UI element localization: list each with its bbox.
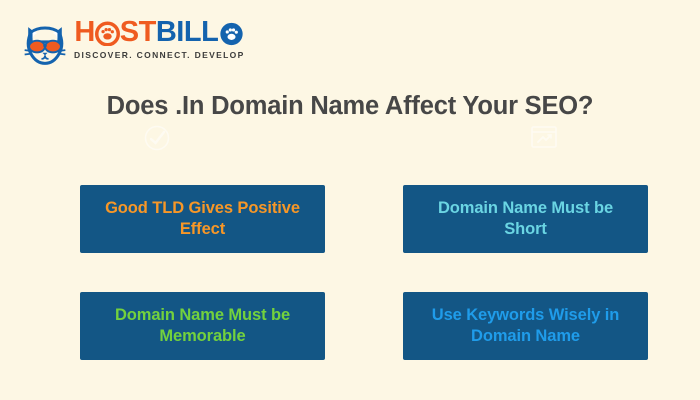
factor-box-2[interactable]: Domain Name Must be Short [403, 185, 648, 253]
browser-window-chart-watermark-icon [529, 124, 559, 152]
cat-face-sunglasses-icon [22, 20, 68, 66]
page-title: Does .In Domain Name Affect Your SEO? [0, 92, 700, 121]
infographic-canvas: H ST BILL [0, 0, 700, 400]
factor-box-3-label: Domain Name Must be Memorable [96, 305, 309, 347]
paw-print-in-letter-o-icon [95, 21, 120, 46]
wordmark-h: H [74, 18, 94, 47]
brand-wordmark-block: H ST BILL [74, 18, 245, 60]
factor-box-3[interactable]: Domain Name Must be Memorable [80, 292, 325, 360]
wordmark-st: ST [120, 18, 156, 47]
brand-tagline: DISCOVER. CONNECT. DEVELOP [74, 50, 245, 60]
brand-wordmark: H ST BILL [74, 18, 244, 47]
clock-check-circle-watermark-icon [142, 123, 172, 153]
factor-box-4[interactable]: Use Keywords Wisely in Domain Name [403, 292, 648, 360]
factor-box-grid: Good TLD Gives Positive Effect Domain Na… [80, 185, 648, 360]
factor-box-4-label: Use Keywords Wisely in Domain Name [419, 305, 632, 347]
paw-print-circle-o-icon [219, 21, 244, 46]
wordmark-bill: BILL [156, 18, 218, 47]
factor-box-2-label: Domain Name Must be Short [419, 198, 632, 240]
factor-box-1[interactable]: Good TLD Gives Positive Effect [80, 185, 325, 253]
brand-logo[interactable]: H ST BILL [22, 18, 245, 66]
factor-box-1-label: Good TLD Gives Positive Effect [96, 198, 309, 240]
